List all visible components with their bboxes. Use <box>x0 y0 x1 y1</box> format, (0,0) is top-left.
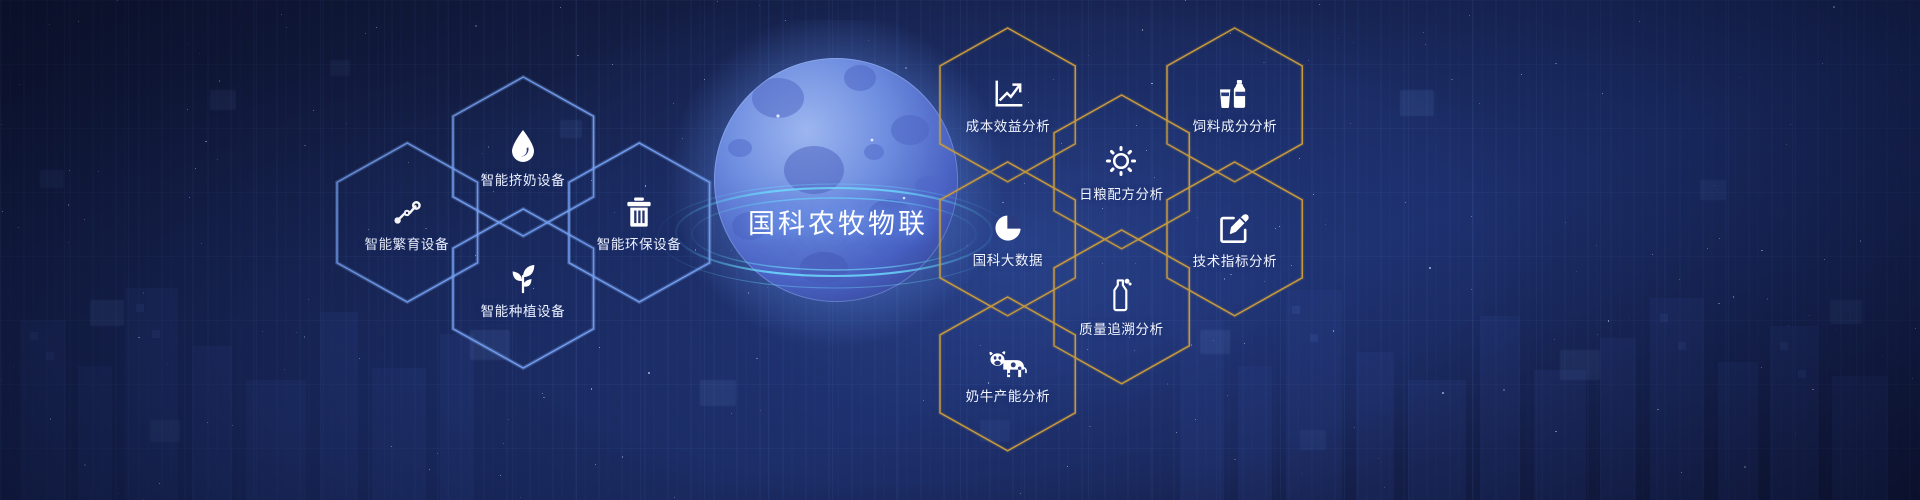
hex-cow-capacity[interactable]: 奶牛产能分析 <box>939 296 1076 452</box>
hex-label-technical: 技术指标分析 <box>1193 250 1278 270</box>
hex-label-ration: 日粮配方分析 <box>1079 183 1164 203</box>
hex-environment[interactable]: 智能环保设备 <box>568 142 711 303</box>
hero-banner: 国科农牧物联 智能繁育设备 智能挤奶设备 智能种植设备 智能环保设备 <box>0 0 1920 500</box>
hex-label-traceability: 质量追溯分析 <box>1079 318 1164 338</box>
hex-label-cost-benefit: 成本效益分析 <box>966 115 1051 135</box>
milk-bottle-icon <box>1108 278 1134 312</box>
hex-label-breeding: 智能繁育设备 <box>364 233 449 253</box>
hex-label-bigdata: 国科大数据 <box>973 249 1044 269</box>
hex-label-feed: 饲料成分分析 <box>1193 115 1278 135</box>
hex-label-cow-capacity: 奶牛产能分析 <box>966 385 1051 405</box>
nodes-icon <box>392 197 422 227</box>
milk-glass-icon <box>1218 79 1252 109</box>
droplet-icon <box>508 129 538 163</box>
sun-icon <box>1105 145 1137 177</box>
cow-icon <box>987 347 1029 379</box>
hex-label-planting: 智能种植设备 <box>481 300 566 320</box>
hex-label-environment: 智能环保设备 <box>597 233 682 253</box>
pie-chart-icon <box>993 213 1023 243</box>
edit-pencil-icon <box>1219 213 1250 244</box>
trash-bin-icon <box>625 196 653 227</box>
plant-icon <box>507 262 539 294</box>
hex-label-milking: 智能挤奶设备 <box>481 169 566 189</box>
line-chart-icon <box>993 79 1023 109</box>
